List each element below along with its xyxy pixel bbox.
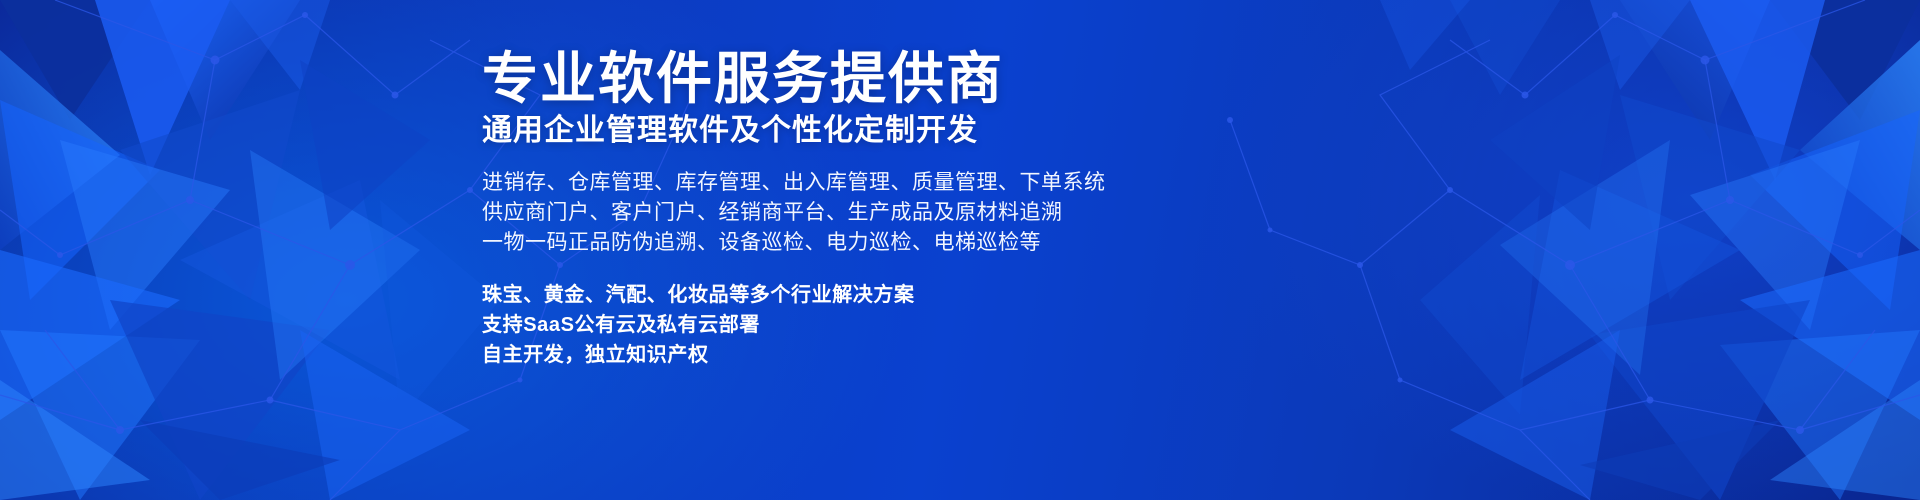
promotional-banner: 专业软件服务提供商 通用企业管理软件及个性化定制开发 进销存、仓库管理、库存管理… [0, 0, 1920, 500]
highlight-line: 自主开发，独立知识产权 [482, 340, 1582, 370]
highlight-line: 珠宝、黄金、汽配、化妆品等多个行业解决方案 [482, 280, 1582, 310]
highlight-line: 支持SaaS公有云及私有云部署 [482, 310, 1582, 340]
banner-subheadline: 通用企业管理软件及个性化定制开发 [482, 112, 1582, 150]
page-title: 专业软件服务提供商 [482, 48, 1582, 110]
left-polygon-cluster [0, 0, 500, 500]
body-line: 供应商门户、客户门户、经销商平台、生产成品及原材料追溯 [482, 198, 1582, 228]
banner-body-list: 进销存、仓库管理、库存管理、出入库管理、质量管理、下单系统 供应商门户、客户门户… [482, 168, 1582, 258]
banner-text-content: 专业软件服务提供商 通用企业管理软件及个性化定制开发 进销存、仓库管理、库存管理… [482, 48, 1582, 370]
banner-highlight-list: 珠宝、黄金、汽配、化妆品等多个行业解决方案 支持SaaS公有云及私有云部署 自主… [482, 280, 1582, 370]
body-line: 进销存、仓库管理、库存管理、出入库管理、质量管理、下单系统 [482, 168, 1582, 198]
body-line: 一物一码正品防伪追溯、设备巡检、电力巡检、电梯巡检等 [482, 228, 1582, 258]
